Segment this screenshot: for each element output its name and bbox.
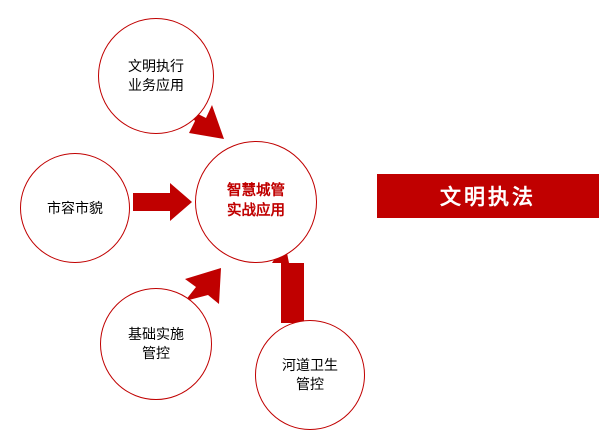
node-river-sanitation-control-line-1: 河道卫生 (282, 356, 338, 375)
banner-civilized-law-enforcement[interactable]: 文明执法 (377, 174, 599, 218)
diagram-canvas: 文明执行 业务应用 市容市貌 基础实施 管控 河道卫生 管控 智慧城管 实战应用… (0, 0, 614, 447)
center-node[interactable]: 智慧城管 实战应用 (195, 141, 317, 263)
center-node-line-1: 智慧城管 (227, 182, 285, 202)
node-river-sanitation-control-line-2: 管控 (296, 375, 324, 394)
node-city-appearance-line-1: 市容市貌 (47, 199, 103, 218)
arrow-from-city-appearance (133, 183, 192, 221)
node-river-sanitation-control[interactable]: 河道卫生 管控 (255, 320, 365, 430)
banner-label: 文明执法 (440, 181, 536, 211)
node-civilized-enforcement-line-2: 业务应用 (128, 76, 184, 95)
node-civilized-enforcement[interactable]: 文明执行 业务应用 (98, 18, 214, 134)
node-civilized-enforcement-line-1: 文明执行 (128, 57, 184, 76)
node-infrastructure-control-line-2: 管控 (142, 344, 170, 363)
arrow-from-infrastructure-control (185, 268, 221, 304)
center-node-line-2: 实战应用 (227, 202, 285, 222)
node-infrastructure-control-line-1: 基础实施 (128, 325, 184, 344)
node-infrastructure-control[interactable]: 基础实施 管控 (100, 288, 212, 400)
node-city-appearance[interactable]: 市容市貌 (20, 153, 130, 263)
